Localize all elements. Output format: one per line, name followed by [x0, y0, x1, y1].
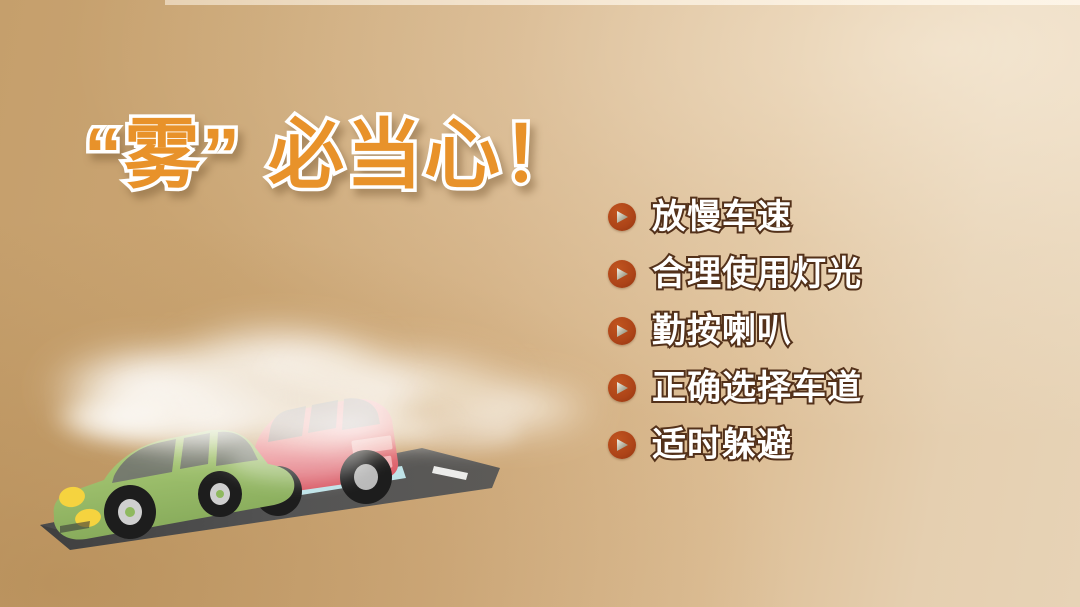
list-item-label: 合理使用灯光: [652, 257, 862, 291]
list-item[interactable]: 放慢车速: [608, 196, 862, 238]
list-item-label: 正确选择车道: [652, 371, 862, 405]
play-triangle-icon: [608, 203, 636, 231]
top-light-band: [165, 0, 1080, 5]
title-rest: 必当心！: [268, 113, 580, 198]
list-item[interactable]: 适时躲避: [608, 424, 862, 466]
play-triangle-icon: [608, 317, 636, 345]
tips-list: 放慢车速 合理使用灯光 勤按喇叭 正确选择车道 适时躲避: [608, 196, 862, 466]
play-triangle-icon: [608, 374, 636, 402]
slide-title: “雾”必当心！: [84, 118, 580, 194]
slide-canvas: “雾”必当心！ 放慢车速 合理使用灯光 勤按喇叭 正确选择车道: [0, 0, 1080, 607]
play-triangle-icon: [608, 431, 636, 459]
list-item-label: 放慢车速: [652, 200, 792, 234]
title-quoted-word: “雾”: [84, 113, 242, 198]
list-item[interactable]: 正确选择车道: [608, 367, 862, 409]
list-item[interactable]: 勤按喇叭: [608, 310, 862, 352]
list-item-label: 适时躲避: [652, 428, 792, 462]
foggy-road-illustration: [30, 300, 610, 570]
play-triangle-icon: [608, 260, 636, 288]
list-item-label: 勤按喇叭: [652, 314, 792, 348]
list-item[interactable]: 合理使用灯光: [608, 253, 862, 295]
